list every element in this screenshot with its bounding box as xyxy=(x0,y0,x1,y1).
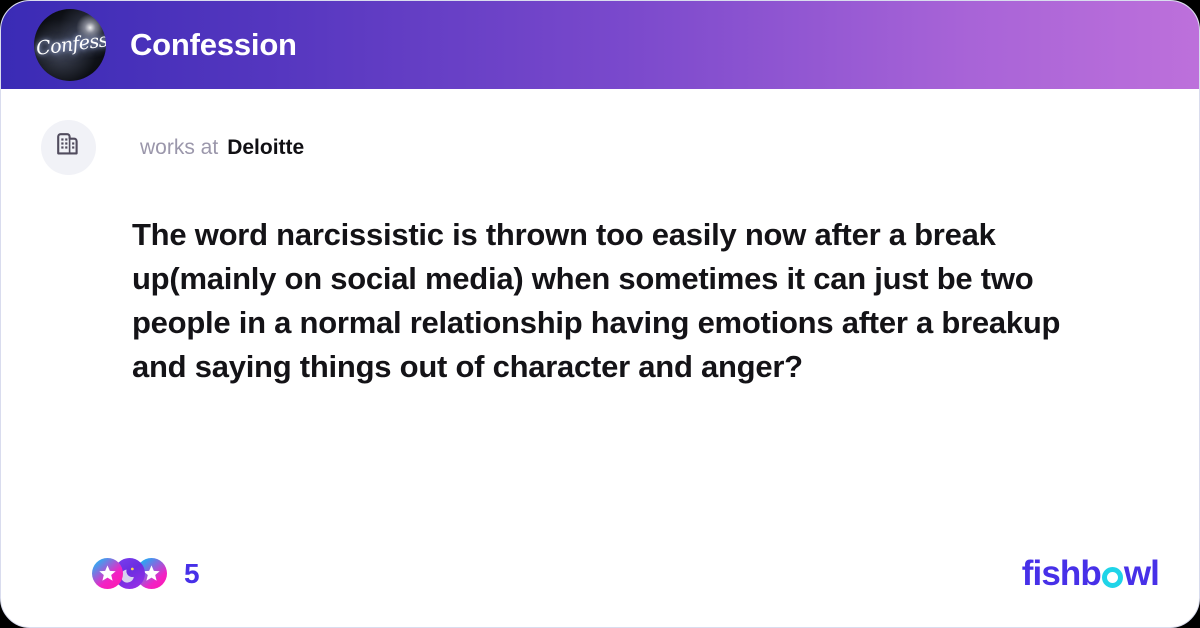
reaction-badge-stack[interactable] xyxy=(92,558,167,589)
avatar[interactable]: Confession xyxy=(34,9,106,81)
works-at-label: works at xyxy=(140,136,218,159)
card-body: works atDeloitte The word narcissistic i… xyxy=(1,89,1199,627)
card-footer: 5 fishb wl xyxy=(41,556,1159,591)
author-meta: works atDeloitte xyxy=(140,137,304,158)
fishbowl-logo[interactable]: fishb wl xyxy=(1022,556,1159,591)
reaction-count: 5 xyxy=(184,558,200,590)
post-body-text: The word narcissistic is thrown too easi… xyxy=(132,213,1121,389)
star-reaction-icon[interactable] xyxy=(92,558,123,589)
card-header: Confession Confession xyxy=(1,1,1199,89)
page-title: Confession xyxy=(130,27,297,63)
logo-o-icon xyxy=(1102,567,1123,588)
logo-text-start: fishb xyxy=(1022,556,1101,591)
post-card: Confession Confession xyxy=(0,0,1200,628)
company-name[interactable]: Deloitte xyxy=(227,136,304,159)
avatar-label: Confession xyxy=(35,29,106,60)
building-icon xyxy=(54,130,84,165)
author-row: works atDeloitte xyxy=(41,120,1159,175)
author-avatar xyxy=(41,120,96,175)
logo-text-end: wl xyxy=(1124,556,1159,591)
reactions-group[interactable]: 5 xyxy=(92,558,200,590)
